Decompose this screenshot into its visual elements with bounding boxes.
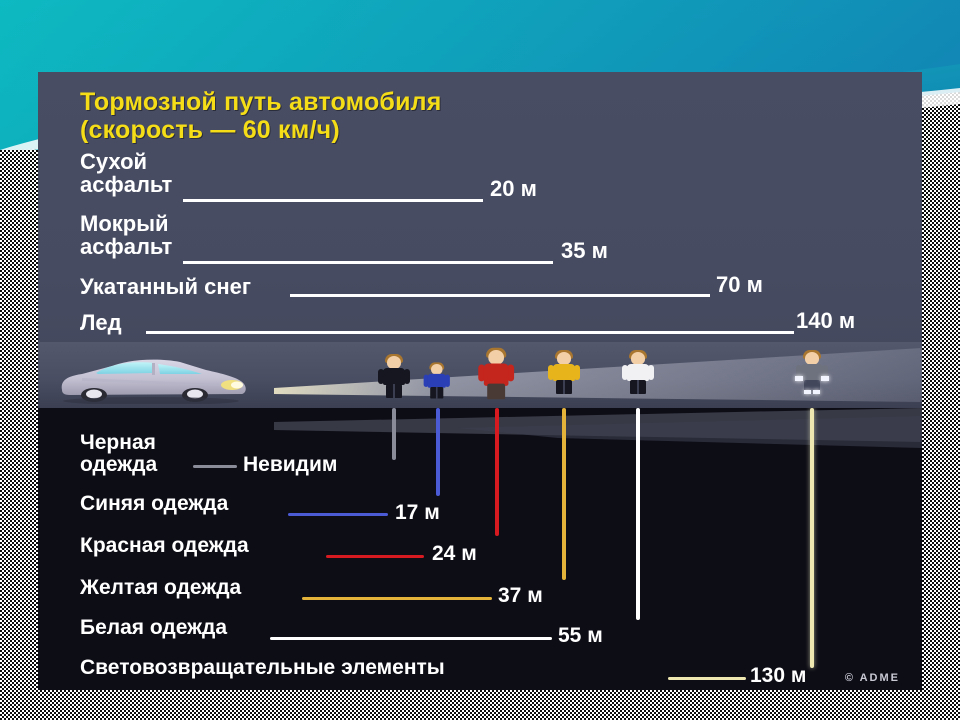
pedestrian-torso (428, 374, 446, 388)
dropline-white-clothing (636, 408, 640, 620)
pedestrian-torso (553, 364, 575, 381)
row-black-clothing-label-2: одежда (80, 454, 157, 476)
pedestrian-torso (801, 364, 823, 381)
pedestrian-red-clothing (476, 350, 516, 397)
row-yellow-clothing-label: Желтая одежда (80, 576, 241, 600)
pedestrian-black-clothing (376, 356, 412, 398)
leader-packed-snow (290, 294, 710, 297)
pedestrian-torso (627, 364, 649, 381)
value-wet-asphalt: 35 м (561, 238, 608, 264)
row-white-clothing-label: Белая одежда (80, 616, 227, 640)
pedestrian-torso (383, 368, 405, 385)
credit-watermark: © ADME (845, 672, 900, 684)
pedestrian-leg-split (393, 384, 395, 398)
value-white-clothing: 55 м (558, 624, 603, 648)
pedestrian-reflective-elements (794, 352, 830, 394)
pedestrian-white-clothing (620, 352, 656, 394)
pedestrian-blue-clothing (422, 364, 452, 398)
row-ice-label: Лед (80, 310, 122, 336)
pedestrian-leg-split (637, 380, 639, 394)
pedestrian-torso (484, 363, 509, 385)
value-reflective-elements: 130 м (750, 664, 806, 688)
pedestrian-leg-split (563, 380, 565, 394)
row-wet-asphalt-label-2: асфальт (80, 235, 172, 258)
row-black-clothing-label-1: Черная (80, 432, 157, 454)
row-red-clothing-label: Красная одежда (80, 534, 249, 558)
value-red-clothing: 24 м (432, 542, 477, 566)
row-dry-asphalt: Сухой асфальт (80, 150, 172, 197)
leader-red-clothing (326, 555, 424, 558)
row-wet-asphalt-label-1: Мокрый (80, 212, 172, 235)
row-dry-asphalt-label-2: асфальт (80, 173, 172, 196)
value-ice: 140 м (796, 308, 855, 334)
row-reflective-elements-label: Световозвращательные элементы (80, 656, 445, 680)
value-yellow-clothing: 37 м (498, 584, 543, 608)
road-scene (38, 342, 922, 410)
leader-black-clothing (193, 465, 237, 468)
leader-ice (146, 331, 794, 334)
row-wet-asphalt: Мокрый асфальт (80, 212, 172, 259)
road-shadow-wedge (38, 408, 922, 468)
car-illustration (56, 354, 251, 404)
row-dry-asphalt-label-1: Сухой (80, 150, 172, 173)
row-black-clothing: Черная одежда (80, 432, 157, 477)
pedestrian-legs (487, 384, 505, 400)
dropline-blue-clothing (436, 408, 440, 496)
visibility-distance-section: Черная одежда Невидим Синяя одежда 17 м … (38, 408, 922, 690)
pedestrian-leg-split (436, 387, 438, 398)
value-black-clothing: Невидим (243, 453, 337, 477)
leader-yellow-clothing (302, 597, 492, 600)
dropline-reflective-elements (810, 408, 814, 668)
value-blue-clothing: 17 м (395, 501, 440, 525)
leader-wet-asphalt (183, 261, 553, 264)
slide-canvas: Тормозной путь автомобиля (скорость — 60… (0, 0, 960, 720)
reflective-band-ankle-left (804, 390, 811, 394)
dropline-red-clothing (495, 408, 499, 536)
reflective-band-wrist-left (795, 376, 803, 381)
row-packed-snow-label: Укатанный снег (80, 274, 251, 300)
pedestrian-head (488, 350, 504, 365)
dropline-black-clothing (392, 408, 396, 460)
page-title: Тормозной путь автомобиля (скорость — 60… (80, 88, 780, 144)
reflective-band-wrist-right (821, 376, 829, 381)
pedestrian-yellow-clothing (546, 352, 582, 394)
row-blue-clothing-label: Синяя одежда (80, 492, 228, 516)
reflective-band-ankle-right (813, 390, 820, 394)
title-line-1: Тормозной путь автомобиля (80, 88, 442, 116)
leader-blue-clothing (288, 513, 388, 516)
leader-reflective-elements (668, 677, 746, 680)
value-packed-snow: 70 м (716, 272, 763, 298)
dropline-yellow-clothing (562, 408, 566, 580)
leader-white-clothing (270, 637, 552, 640)
infographic-card: Тормозной путь автомобиля (скорость — 60… (38, 72, 922, 690)
value-dry-asphalt: 20 м (490, 176, 537, 202)
title-line-2: (скорость — 60 км/ч) (80, 116, 340, 144)
leader-dry-asphalt (183, 199, 483, 202)
